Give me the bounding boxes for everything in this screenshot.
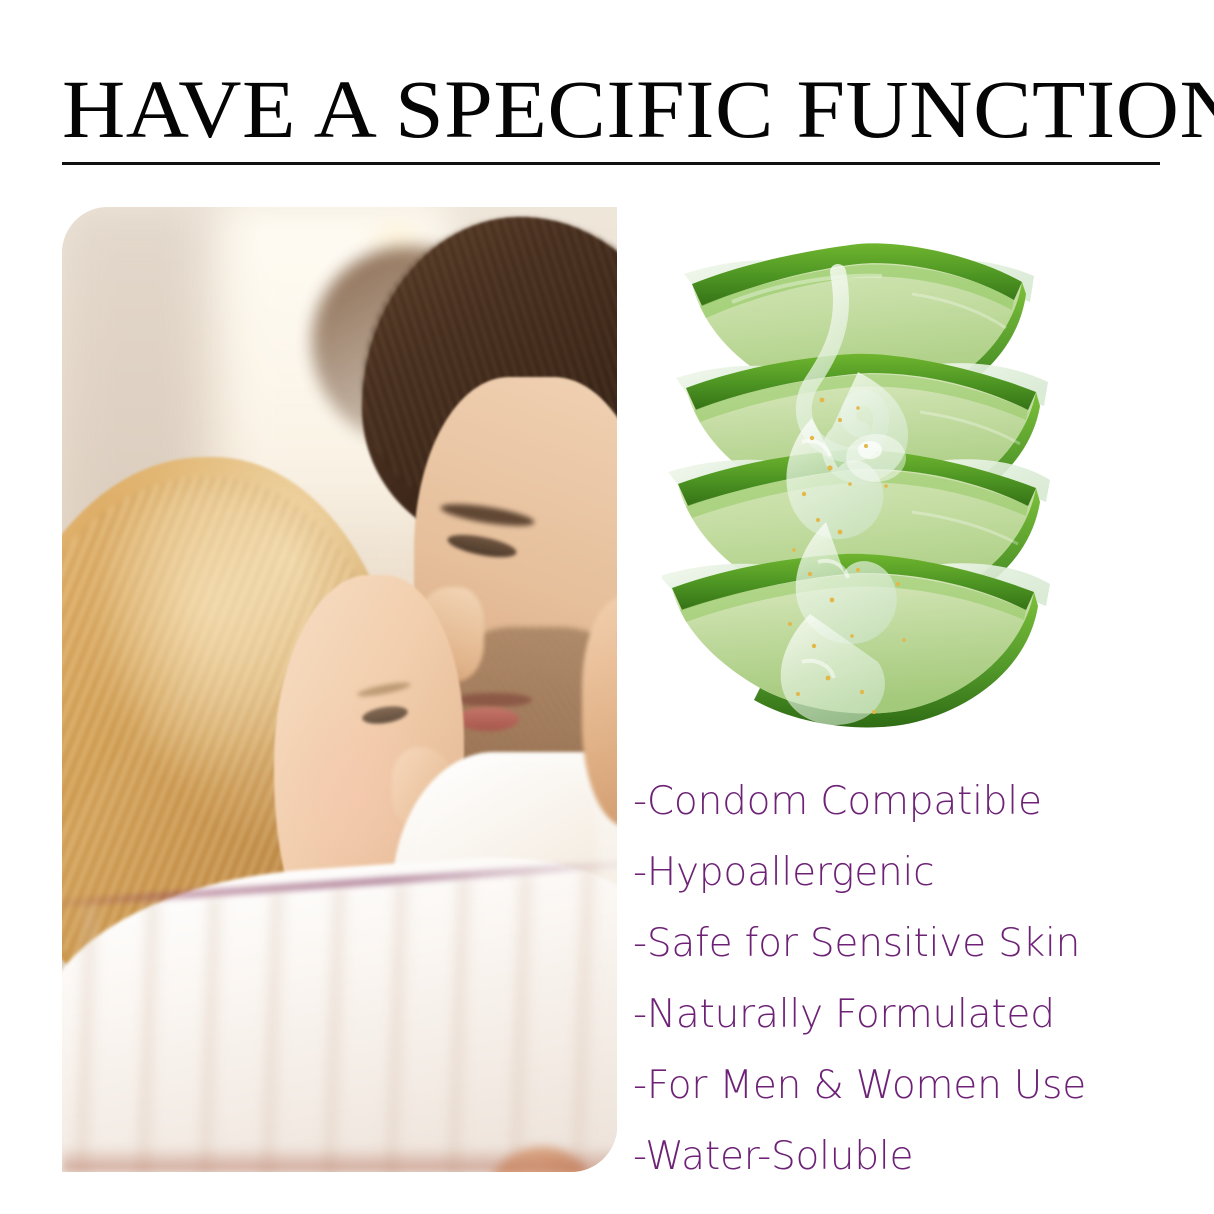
feature-item-naturally-formulated: -Naturally Formulated — [633, 979, 1153, 1050]
feature-list: -Condom Compatible -Hypoallergenic -Safe… — [633, 766, 1153, 1192]
page-title: HAVE A SPECIFIC FUNCTION — [62, 66, 1214, 152]
pillow-folds — [62, 866, 617, 1172]
man-lips — [457, 707, 519, 731]
feature-item-men-women-use: -For Men & Women Use — [633, 1050, 1153, 1121]
feature-item-hypoallergenic: -Hypoallergenic — [633, 837, 1153, 908]
title-underline-rule — [62, 162, 1160, 165]
man-mouth-line — [454, 693, 532, 707]
feature-item-safe-sensitive-skin: -Safe for Sensitive Skin — [633, 908, 1153, 979]
aloe-vera-stack-image — [662, 232, 1052, 732]
feature-item-condom-compatible: -Condom Compatible — [633, 766, 1153, 837]
photo-bottom-shadow — [62, 1146, 617, 1172]
page-header: HAVE A SPECIFIC FUNCTION — [62, 66, 1160, 152]
aloe-vera-svg — [662, 232, 1052, 732]
product-feature-page: HAVE A SPECIFIC FUNCTION — [0, 0, 1214, 1214]
feature-item-water-soluble: -Water-Soluble — [633, 1121, 1153, 1192]
couple-lifestyle-photo — [62, 207, 617, 1172]
